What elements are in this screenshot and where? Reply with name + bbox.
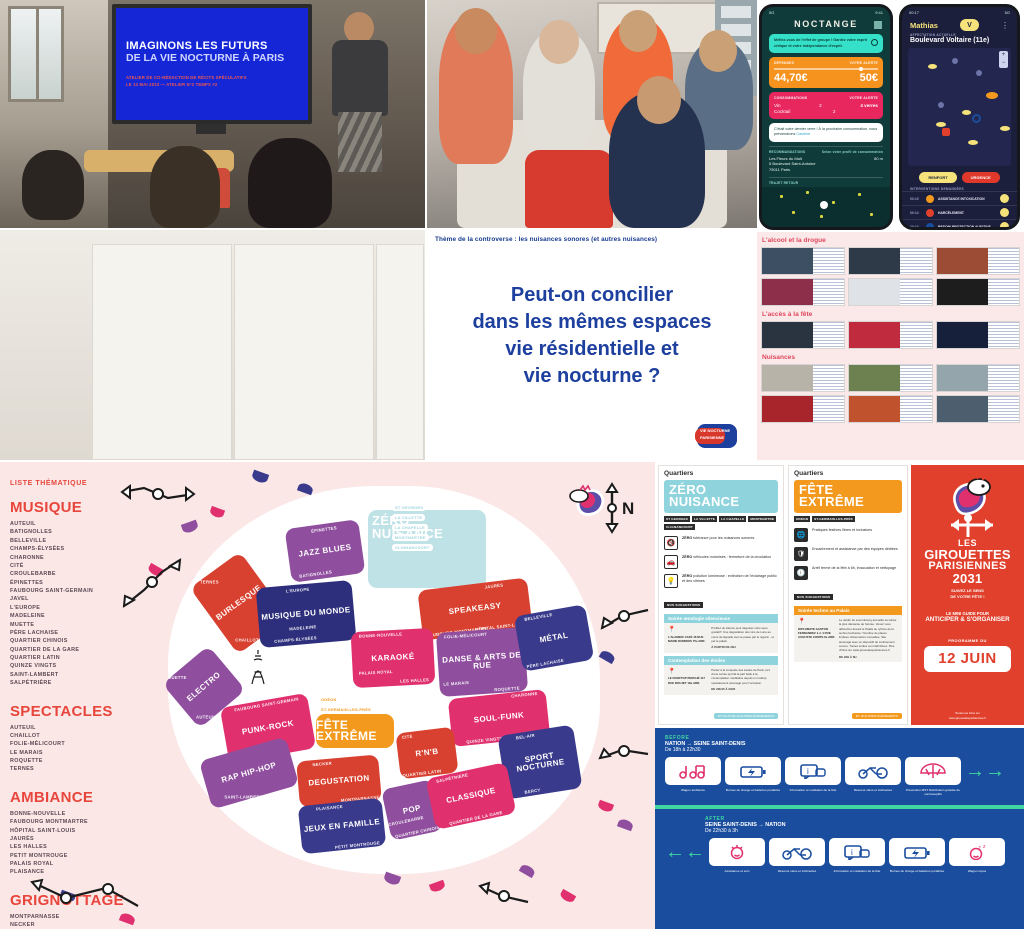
umbrella-health-icon [905, 757, 961, 785]
wall-panel-3 [376, 244, 424, 460]
drink-qty: 2 [819, 103, 822, 108]
cover-subtitle-2: ANTICIPER & S'ORGANISER [925, 616, 1009, 624]
music-notes-icon [665, 757, 721, 785]
district-quarter: CITÉ [402, 734, 413, 741]
article-thumb [936, 364, 1020, 392]
district-name: KARAOKÉ [371, 653, 415, 664]
speaker-legs [338, 112, 382, 172]
event-description: Profitez du silence pour déguster votre … [711, 626, 774, 643]
legend-item: PETIT MONTROUGE [10, 852, 160, 860]
district-quarter: CROULEBARBE [388, 815, 424, 828]
consumption-card[interactable]: CONSOMMATIONS VOTRE ALERTE Vin 2 4 verre… [769, 92, 883, 119]
spending-progress [774, 68, 878, 70]
district-quarter: CHAILLOT [235, 637, 259, 642]
district-name: SPORT NOCTURNE [501, 748, 579, 776]
bulb-icon [871, 39, 878, 46]
spending-limit: 50€ [860, 72, 878, 84]
slide-subtitle-2: LE 13 MAI 2023 — ATELIER N°2 TEMPS #2 [126, 81, 298, 88]
card-tags: ST GEORGES LA VILLETTE LA CHAPELLE MONTM… [664, 516, 778, 530]
direction-arrow-right-icon: →→ [965, 757, 1005, 785]
speaker-icon[interactable] [1000, 194, 1009, 203]
district-name: RAP HIP-HOP [221, 761, 278, 785]
event-venue: 📍LE ROOFTOP PERCHÉ 117 RUE ROUJET 18e AR… [668, 668, 708, 692]
headline-line-3: vie résidentielle et [427, 336, 757, 363]
collage-section-title: L'accès à la fête [762, 311, 1024, 318]
zone-tag: ODÉON [318, 696, 340, 703]
advice-card: Méfiez-vous de l'effet de groupe ! Garde… [769, 34, 883, 53]
legend-item: TERNES [10, 765, 160, 773]
zone-tag: LA CHAPELLE [392, 524, 428, 531]
cover-footer: Toutes les infos sur www.girouettesparis… [949, 711, 986, 720]
district-quarter: BONNE-NOUVELLE [359, 631, 403, 639]
controversy-theme-line: Thème de la controverse : les nuisances … [435, 236, 749, 243]
participant-2 [523, 30, 595, 150]
headline-question: Peut-on concilier dans les mêmes espaces… [427, 282, 757, 390]
event-item[interactable]: Contemplation des étoiles 📍LE ROOFTOP PE… [664, 656, 778, 695]
service-caption: Information et médiation de la fête [785, 788, 841, 792]
status-time: 00:17 [909, 10, 919, 15]
controversy-question-board: Thème de la controverse : les nuisances … [427, 230, 757, 460]
service-item[interactable]: Prévention MST Distribution gratuite de … [905, 757, 961, 797]
card-rule: 🌐 Pratiques festives libres et inclusive… [794, 528, 902, 542]
participant-4 [609, 92, 705, 228]
no-car-icon: 🚗 [664, 555, 678, 569]
drink-name: Cocktail [774, 109, 790, 114]
event-item[interactable]: Soirée techno au Palais 📍DIPLOMATE GASTO… [794, 606, 902, 662]
slide-subtitle-1: ATELIER DE CO-RÉDACTION DE RÉCITS SPÉCUL… [126, 74, 298, 81]
legend-group-list: BONNE-NOUVELLE FAUBOURG MONTMARTRE HÔPIT… [10, 810, 160, 877]
service-item[interactable]: Wagon ambiance [665, 757, 721, 792]
legend-item: PALAIS ROYAL [10, 860, 160, 868]
rule-bold: ZÉRO [682, 574, 692, 578]
event-title: Soirée œnologie silencieuse [664, 614, 778, 623]
card-banner: ZÉRO NUISANCE [664, 480, 778, 513]
district-name: DEGUSTATION [308, 774, 370, 788]
legend-item: SAINT-LAMBERT [10, 671, 160, 679]
wall-panel-2 [234, 244, 374, 460]
card-tag: ODÉON [794, 516, 810, 522]
article-thumb [761, 364, 845, 392]
intervention-type-icon [926, 209, 934, 217]
zone-tag: ST GEORGES [392, 504, 426, 511]
vie-nocturne-parisienne-logo: VIE NOCTURNE PARISIENNE [697, 424, 741, 448]
zoom-out-button[interactable]: − [999, 59, 1008, 67]
card-banner: FÊTE EXTRÊME [794, 480, 902, 513]
service-caption: Assistance et soin [709, 869, 765, 873]
panel-night-transport: BEFORE NATION → SEINE SAINT-DENIS De 18h… [655, 728, 1024, 929]
card-tag: LA VILLETTE [692, 516, 717, 522]
intervention-type-icon [926, 223, 934, 231]
event-description: Le Jardin du Luxembourg accueille sa soi… [839, 618, 896, 653]
headline-line-4: vie nocturne ? [427, 363, 757, 390]
district-name: PUNK-ROCK [241, 719, 294, 736]
photo-conference-room: IMAGINONS LES FUTURS DE LA VIE NOCTURNE … [0, 0, 425, 228]
district-musique-du-monde[interactable]: L'EUROPE MUSIQUE DU MONDE MADELEINE CHAM… [256, 580, 357, 648]
collage-grid [757, 321, 1024, 349]
district-quarter: ÉPINETTES [311, 525, 337, 534]
last-drink-note: C'était votre dernier verre ! À la proch… [769, 123, 883, 142]
phone-mockup-mathias: 00:17 5G Mathias V ⋮ AFFECTATION ACTUELL… [899, 4, 1020, 230]
suggestions-label: NOS SUGGESTIONS [664, 602, 703, 608]
svg-text:i: i [807, 767, 809, 776]
footer-line-2: www.girouettesparisiennes.fr [949, 716, 986, 720]
intervention-time: 00:15 [910, 197, 922, 201]
clock-icon: 🕕 [794, 566, 808, 580]
service-item[interactable]: Réservé vélos et trottinettes [845, 757, 901, 792]
legend-item: MUETTE [10, 621, 160, 629]
article-thumb [848, 395, 932, 423]
service-caption: Réservé vélos et trottinettes [769, 869, 825, 873]
card-rule: 🚗 ZÉRO véhicules motorisés : fermeture d… [664, 555, 778, 569]
district-quarter: JAURÈS [484, 582, 503, 590]
district-quarter: BATIGNOLLES [299, 569, 332, 579]
consumption-label: CONSOMMATIONS [774, 96, 807, 100]
renfort-button[interactable]: RENFORT [919, 172, 956, 183]
legend-item: QUINZE VINGTS [10, 662, 160, 670]
intervention-label: BESOIN PROTECTION AUDITIVE [938, 225, 991, 229]
service-item[interactable]: Bornes de charge et batteries portables [725, 757, 781, 792]
card-tag: CLIGNANCOURT [664, 524, 695, 530]
recommended-venue[interactable]: Les Fleurs du Malt 5 Boulevard Saint-Ant… [769, 156, 883, 173]
consumption-alert-label: VOTRE ALERTE [850, 96, 878, 100]
status-bar: 5G 9:41 [762, 7, 890, 15]
note-contact-link[interactable]: Caroline. [796, 132, 811, 136]
card-tags: ODÉON ST-GERMAIN-LES-PRÉS [794, 516, 902, 522]
battery-charge-icon [889, 838, 945, 866]
legend-item: BONNE-NOUVELLE [10, 810, 160, 818]
program-label: PROGRAMME DU [948, 638, 987, 643]
article-thumb [936, 321, 1020, 349]
strip-before: BEFORE NATION → SEINE SAINT-DENIS De 18h… [655, 728, 1024, 801]
legend-item: CHAILLOT [10, 732, 160, 740]
district-name: ELECTRO [186, 671, 223, 704]
speaker-icon[interactable] [1000, 208, 1009, 217]
service-item[interactable]: zz Wagon repos [949, 838, 1005, 873]
info-bubble-icon: i [785, 757, 841, 785]
legend-group-list: AUTEUIL CHAILLOT FOLIE-MÉLICOURT LE MARA… [10, 724, 160, 774]
event-title: Contemplation des étoiles [664, 656, 778, 665]
rule-text: pollution lumineuse : extinction de l'éc… [682, 574, 777, 584]
phone-mockup-noctange: 5G 9:41 NOCTANGE Méfiez-vous de l'effet … [759, 4, 893, 230]
district-quarter: L'EUROPE [286, 587, 310, 594]
event-venue-text: LE ROOFTOP PERCHÉ 117 RUE ROUJET 18e ARR… [668, 676, 708, 684]
more-events-link[interactable]: ET 18 AUTRES ÉVÉNEMENTS [852, 713, 902, 719]
district-name: MUSIQUE DU MONDE [261, 606, 351, 622]
district-name: JAZZ BLUES [298, 543, 352, 559]
compass-north-label: N [622, 499, 634, 518]
article-thumb [936, 395, 1020, 423]
service-caption: Bornes de charge et batteries portables [725, 788, 781, 792]
consumption-limit: 4 verres [860, 103, 878, 108]
menu-icon[interactable] [874, 21, 882, 29]
status-network: 5G [1005, 10, 1010, 15]
overflow-menu-icon[interactable]: ⋮ [1001, 21, 1009, 30]
article-thumb [761, 278, 845, 306]
card-rule: 🕕 Arrêt ferme de la fête à 6h, évacuatio… [794, 566, 902, 580]
status-bar: 00:17 5G [902, 7, 1017, 15]
district-name: SOUL-FUNK [473, 711, 524, 725]
intervention-row[interactable]: 00:14 HARCÈLEMENT [902, 205, 1017, 219]
district-name: MÉTAL [539, 631, 569, 644]
audience-head-1 [22, 150, 84, 220]
district-quarter: NECKER [312, 761, 332, 768]
cover-wordmark-year: 2031 [953, 572, 983, 585]
app-brand-noctange: NOCTANGE [794, 19, 858, 29]
service-item[interactable]: Réservé vélos et trottinettes [769, 838, 825, 873]
district-jeux-en-famille[interactable]: PLAISANCE JEUX EN FAMILLE PETIT MONTROUG… [298, 798, 387, 855]
event-item[interactable]: Soirée œnologie silencieuse 📍L'ALAMBIC C… [664, 614, 778, 653]
article-thumb [848, 278, 932, 306]
photo-workshop-table [427, 0, 757, 228]
headline-line-1: Peut-on concilier [427, 282, 757, 309]
legend-item: SALPÉTRIÈRE [10, 679, 160, 687]
intervention-type-icon [926, 195, 934, 203]
event-time: DE 23H À 6H [839, 655, 898, 659]
card-suggestions: NOS SUGGESTIONS Soirée techno au Palais … [794, 585, 902, 662]
rule-text: Arrêt ferme de la fête à 6h, évacuation … [812, 566, 896, 580]
theme-bold: nuisances sonores (et autres nuisances) [530, 236, 658, 243]
battery-charge-icon [725, 757, 781, 785]
sleep-face-icon: zz [949, 838, 1005, 866]
article-thumb [848, 321, 932, 349]
collage-grid [757, 364, 1024, 423]
speaker-body [332, 40, 388, 116]
care-face-icon [709, 838, 765, 866]
app-header: NOCTANGE [762, 15, 890, 34]
drink-name: Vin [774, 103, 781, 108]
recommendations-header: RECOMMANDATIONS Selon votre profil de co… [769, 146, 883, 154]
slide-title-line1: IMAGINONS LES FUTURS [126, 40, 298, 53]
spending-label: DÉPENSES [774, 61, 794, 65]
event-venue: 📍L'ALAMBIC CAFÉ 46 RUE MARIE DORMOIS 75e… [668, 626, 708, 650]
urgence-button[interactable]: URGENCE [962, 172, 1000, 183]
district-quarter: AUTEUIL [196, 715, 216, 720]
intervention-time: 00:10 [910, 225, 922, 229]
event-title: Soirée techno au Palais [794, 606, 902, 615]
district-quarter: TERNES [200, 579, 219, 584]
banner-line-2: NUISANCE [669, 496, 773, 508]
district-quarter: BELLEVILLE [524, 612, 553, 622]
legend-item: QUARTIER CHINOIS [10, 637, 160, 645]
svg-text:i: i [851, 848, 853, 857]
logo-text: VIE NOCTURNE PARISIENNE [700, 428, 740, 442]
thematic-map-poster: LISTE THÉMATIQUE MUSIQUE AUTEUIL BATIGNO… [0, 462, 655, 929]
trip-label: TRAJET RETOUR [769, 181, 798, 185]
after-services: ←← Assistance et soin Réservé vélos et t… [665, 838, 1014, 873]
legend-item: LES HALLES [10, 843, 160, 851]
district-quarter: LE MARAIS [443, 680, 469, 687]
legend-item: PÈRE LACHAISE [10, 629, 160, 637]
consumption-list: Vin 2 4 verres Cocktail 2 [774, 103, 878, 115]
service-caption: Bornes de charge et batteries portables [889, 869, 945, 873]
speaker-icon[interactable] [1000, 222, 1009, 230]
fete-extreme-zone-label: FÊTE EXTRÊME [316, 720, 394, 742]
participant-1 [439, 14, 513, 164]
article-thumb [848, 247, 932, 275]
service-caption: Wagon repos [949, 869, 1005, 873]
compass-weathervane-icon: N [566, 482, 634, 536]
legend-item: HÔPITAL SAINT-LOUIS [10, 827, 160, 835]
card-guide-cover: LES GIROUETTES PARISIENNES 2031 SUIVEZ L… [911, 465, 1024, 725]
event-description: Partez à la conquête des étoiles de Pari… [711, 668, 770, 685]
rule-text: Encadrement et assistance par des équipe… [812, 547, 898, 561]
legend-item: AUTEUIL [10, 724, 160, 732]
district-fete-extreme-zone[interactable]: FÊTE EXTRÊME [316, 714, 394, 748]
service-caption: Wagon ambiance [665, 788, 721, 792]
shield-icon: 🛡 [794, 547, 808, 561]
bike-icon [845, 757, 901, 785]
intervention-label: ASSISTANCE INTOXICATION [938, 197, 985, 201]
venue-city: 75011 Paris [769, 167, 815, 173]
article-thumb [848, 364, 932, 392]
spending-card[interactable]: DÉPENSES VOTRE ALERTE 44,70€ 50€ [769, 57, 883, 88]
slide-title-line2: DE LA VIE NOCTURNE À PARIS [126, 52, 298, 65]
district-quarter: MADELEINE [289, 624, 317, 632]
legend-item: QUARTIER DE LA GARE [10, 646, 160, 654]
headline-line-2: dans les mêmes espaces [427, 309, 757, 336]
intervention-row[interactable]: 00:15 ASSISTANCE INTOXICATION [902, 191, 1017, 205]
card-suggestions: NOS SUGGESTIONS Soirée œnologie silencie… [664, 593, 778, 695]
event-time: À PARTIR DE 20H [711, 645, 774, 649]
district-karaoke[interactable]: BONNE-NOUVELLE KARAOKÉ PALAIS ROYAL LES … [351, 628, 436, 688]
zone-tag: LA VILLETTE [392, 514, 425, 521]
service-caption: Prévention MST Distribution gratuite de … [905, 788, 961, 797]
trip-header: TRAJET RETOUR [769, 177, 883, 185]
spending-value: 44,70€ [774, 72, 808, 84]
map-legend: LISTE THÉMATIQUE MUSIQUE AUTEUIL BATIGNO… [10, 480, 160, 929]
poster-collage: IMAGINONS LES FUTURS DE LA VIE NOCTURNE … [0, 0, 1024, 929]
district-quarter: MUETTE [168, 675, 187, 680]
zone-tag: MONTMARTRE [392, 534, 429, 541]
event-venue-text: DIPLOMATE GASTON FERNANDEZ J.J. 4 RUE AU… [798, 627, 836, 640]
venue-distance: 80 m [874, 156, 883, 173]
service-item[interactable]: i Information et médiation de la fête [829, 838, 885, 873]
agent-header: Mathias V ⋮ [902, 15, 1017, 33]
map-zoom-controls[interactable]: + − [999, 51, 1008, 68]
card-quartier-zero-nuisance: Quartiers ZÉRO NUISANCE ST GEORGES LA VI… [658, 465, 784, 725]
drink-qty: 2 [833, 109, 836, 114]
banner-line-2: EXTRÊME [799, 496, 897, 508]
red-chair [525, 150, 613, 228]
agent-name: Mathias [910, 21, 938, 30]
district-name: R'N'B [415, 747, 439, 758]
rooster-weathervane-icon [937, 473, 999, 539]
card-kicker: Quartiers [664, 470, 783, 477]
card-tag: LA CHAPELLE [719, 516, 746, 522]
district-danse-arts-de-rue[interactable]: FOLIE-MÉLICOURT DANSE & ARTS DE RUE LE M… [436, 627, 528, 697]
article-thumb [761, 395, 845, 423]
bike-icon [769, 838, 825, 866]
veilleuse-badge: V [960, 19, 979, 31]
district-name: POP [402, 804, 421, 816]
no-noise-icon: 🔇 [664, 536, 678, 550]
collage-grid [757, 247, 1024, 306]
legend-item: FOLIE-MÉLICOURT [10, 740, 160, 748]
intervention-time: 00:14 [910, 211, 922, 215]
card-tag: ST GEORGES [664, 516, 690, 522]
card-quartier-fete-extreme: Quartiers FÊTE EXTRÊME ODÉON ST-GERMAIN-… [788, 465, 908, 725]
rule-bold: ZÉRO [682, 536, 692, 540]
recommendations-label: RECOMMANDATIONS [769, 150, 805, 154]
night-map[interactable] [762, 187, 890, 227]
legend-item: BELLEVILLE [10, 537, 160, 545]
after-hours: De 22h30 à 3h [705, 828, 1014, 834]
legend-group-title: SPECTACLES [10, 703, 160, 720]
service-item[interactable]: Bornes de charge et batteries portables [889, 838, 945, 873]
district-rnb[interactable]: CITÉ R'N'B QUARTIER LATIN [395, 727, 458, 780]
legend-item: CHAMPS-ÉLYSÉES [10, 545, 160, 553]
eiffel-tower-icon [248, 650, 268, 684]
district-name: DANSE & ARTS DE RUE [438, 651, 527, 674]
note-text: C'était votre dernier verre ! À la proch… [774, 127, 877, 137]
spending-alert-label: VOTRE ALERTE [850, 61, 878, 65]
event-time: DE 22H45 À 2H00 [711, 687, 774, 691]
collage-section-title: L'alcool et la drogue [762, 237, 1024, 244]
district-quarter: CHAMPS-ÉLYSÉES [274, 635, 317, 644]
recommendations-hint: Selon votre profil de consommation [822, 150, 883, 154]
district-quarter: SAINT-LAMBERT [224, 794, 262, 799]
article-thumb [761, 247, 845, 275]
district-quarter: PLAISANCE [316, 804, 343, 812]
program-date-box: 12 JUIN [924, 646, 1011, 672]
svg-text:z: z [978, 846, 981, 852]
audience-head-2 [150, 146, 220, 228]
consumption-row: Cocktail 2 [774, 109, 878, 115]
cover-tagline-2: DE VOTRE FÊTE ! [950, 594, 984, 600]
photo-workshop-wall: Quels nouveaux outils pour contenir les … [0, 230, 425, 460]
service-item[interactable]: i Information et médiation de la fête [785, 757, 841, 792]
no-light-icon: 💡 [664, 574, 678, 588]
rule-text: tolérance pour les nuisances sonores [692, 536, 754, 540]
info-bubble-icon: i [829, 838, 885, 866]
speaker-person [330, 12, 392, 162]
district-name: CLASSIQUE [446, 787, 497, 806]
card-tag: ST-GERMAIN-LES-PRÉS [812, 516, 855, 522]
svg-text:z: z [983, 844, 986, 850]
wall-panel-1 [92, 244, 232, 460]
card-rule: 🛡 Encadrement et assistance par des équi… [794, 547, 902, 561]
screen-stand [196, 124, 226, 134]
district-name: JEUX EN FAMILLE [303, 818, 380, 834]
zoom-in-button[interactable]: + [999, 51, 1008, 59]
assignment-value: Boulevard Voltaire (11e) [902, 37, 1017, 48]
district-jazz-blues[interactable]: JAZZ BLUES ÉPINETTES BATIGNOLLES [285, 519, 366, 583]
legend-item: BATIGNOLLES [10, 528, 160, 536]
more-events-link[interactable]: ET PLUS DE 40 AUTRES ÉVÉNEMENTS [714, 713, 778, 719]
legend-item: ROQUETTE [10, 757, 160, 765]
service-caption: Réservé vélos et trottinettes [845, 788, 901, 792]
strip-after: AFTER SEINE SAINT-DENIS → NATION De 22h3… [655, 809, 1024, 877]
patrol-map[interactable]: + − [908, 48, 1011, 166]
legend-item: QUARTIER LATIN [10, 654, 160, 662]
rule-text: Pratiques festives libres et inclusives [812, 528, 872, 542]
event-venue-text: L'ALAMBIC CAFÉ 46 RUE MARIE DORMOIS 75e … [668, 635, 708, 643]
globe-party-icon: 🌐 [794, 528, 808, 542]
action-buttons: RENFORT URGENCE [902, 172, 1017, 183]
rule-text: véhicules motorisés : fermeture de la ci… [692, 555, 771, 559]
direction-arrow-left-icon: ←← [665, 838, 705, 866]
service-item[interactable]: Assistance et soin [709, 838, 765, 873]
zone-tag: CLIGNANCOURT [392, 544, 433, 551]
intervention-row[interactable]: 00:10 BESOIN PROTECTION AUDITIVE [902, 219, 1017, 230]
article-thumb [761, 321, 845, 349]
suggestions-label: NOS SUGGESTIONS [794, 594, 833, 600]
card-rule: 🔇 ZÉRO tolérance pour les nuisances sono… [664, 536, 778, 550]
before-services: Wagon ambiance Bornes de charge et batte… [665, 757, 1014, 797]
legend-group-title: AMBIANCE [10, 789, 160, 806]
card-tag: MONTMARTRE [748, 516, 776, 522]
service-caption: Information et médiation de la fête [829, 869, 885, 873]
